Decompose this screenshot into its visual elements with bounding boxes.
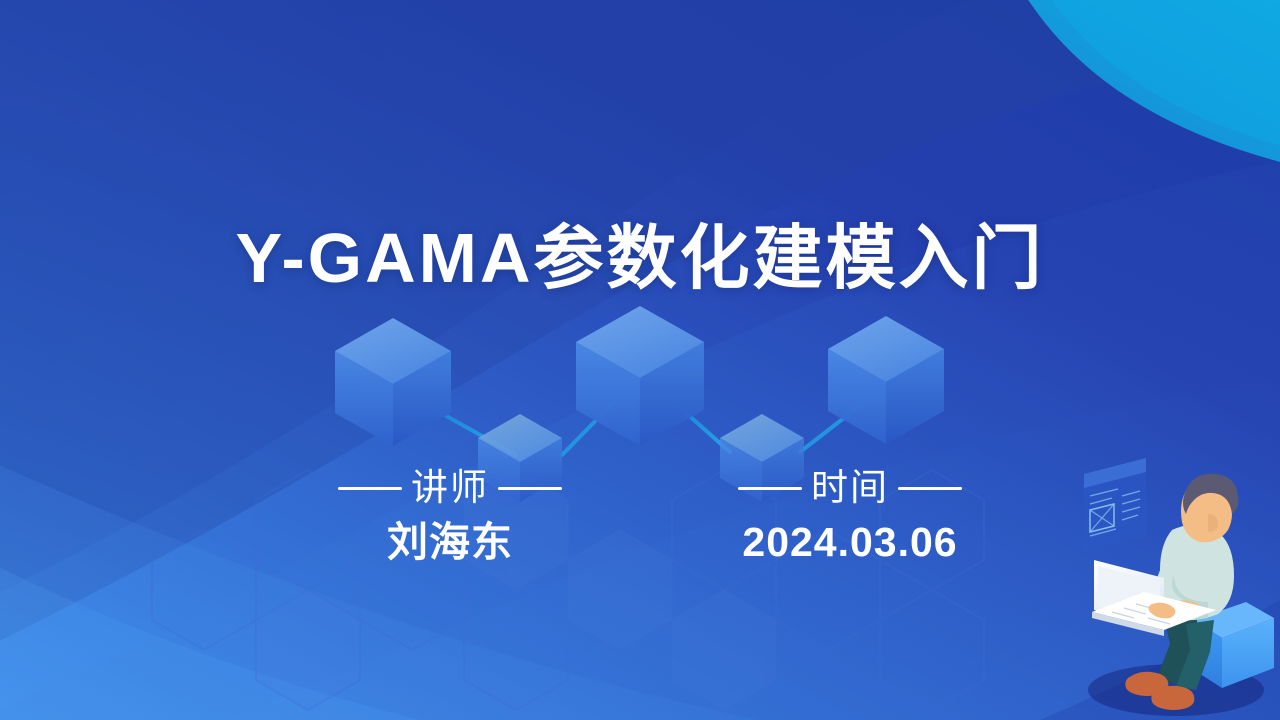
head bbox=[1181, 474, 1238, 542]
slide-meta: 讲师 刘海东 时间 2024.03.06 bbox=[250, 466, 1050, 568]
rule-right-icon bbox=[498, 487, 562, 490]
meta-instructor: 讲师 刘海东 bbox=[250, 466, 650, 568]
meta-instructor-label: 讲师 bbox=[411, 466, 489, 510]
slide-title: Y-GAMA参数化建模入门 bbox=[0, 206, 1280, 310]
meta-date-heading: 时间 bbox=[650, 466, 1050, 510]
meta-date-label: 时间 bbox=[811, 466, 889, 510]
title-text: Y-GAMA参数化建模入门 bbox=[236, 206, 1045, 310]
rule-left-icon bbox=[338, 487, 402, 490]
cube-right bbox=[828, 316, 944, 444]
person-illustration bbox=[1068, 452, 1280, 720]
rule-left-icon bbox=[738, 487, 802, 490]
meta-date: 时间 2024.03.06 bbox=[650, 466, 1050, 568]
cube-center bbox=[576, 306, 704, 446]
person-working-on-laptop-icon bbox=[1068, 452, 1280, 720]
meta-date-value: 2024.03.06 bbox=[650, 516, 1050, 568]
rule-right-icon bbox=[898, 487, 962, 490]
title-slide: Y-GAMA参数化建模入门 讲师 刘海东 时间 2024.03.06 bbox=[0, 0, 1280, 720]
floating-ui-panel bbox=[1084, 458, 1146, 552]
meta-instructor-value: 刘海东 bbox=[250, 516, 650, 568]
meta-instructor-heading: 讲师 bbox=[250, 466, 650, 510]
cube-left bbox=[335, 318, 451, 446]
